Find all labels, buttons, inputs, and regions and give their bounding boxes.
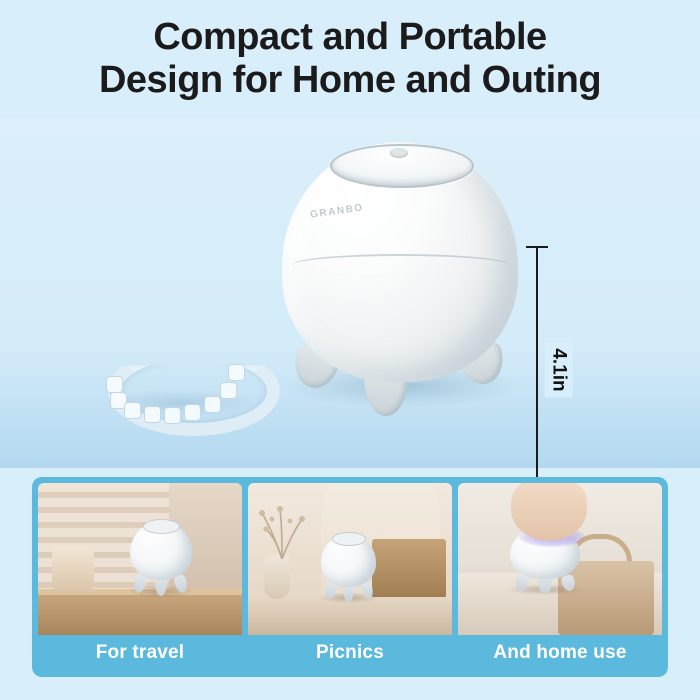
scene-vase xyxy=(264,555,290,599)
product-infographic: Compact and Portable Design for Home and… xyxy=(0,0,700,700)
scene-table xyxy=(38,591,242,635)
tray-segment xyxy=(164,407,181,424)
product-device: GRANBO xyxy=(278,128,522,428)
use-case-caption-travel: For travel xyxy=(38,635,242,671)
use-case-card-home: And home use xyxy=(458,483,662,671)
use-case-panel: For travel xyxy=(32,477,668,677)
headline-line-1: Compact and Portable xyxy=(0,16,700,59)
tray-segment xyxy=(184,404,201,421)
use-case-image-travel xyxy=(38,483,242,635)
use-case-card-travel: For travel xyxy=(38,483,242,671)
use-case-image-picnics xyxy=(248,483,452,635)
hero-image: GRANBO 4.1in 4.1in xyxy=(0,118,700,468)
use-case-caption-home: And home use xyxy=(458,635,662,671)
scene-cup xyxy=(52,547,94,593)
tray-segment xyxy=(204,396,221,413)
tray-segment xyxy=(228,364,245,381)
mini-device xyxy=(315,525,381,599)
power-button-icon[interactable] xyxy=(390,148,408,158)
scene-boxes xyxy=(372,539,446,599)
tray-segment xyxy=(106,376,123,393)
aligner-tray xyxy=(100,346,260,418)
headline-line-2: Design for Home and Outing xyxy=(0,59,700,102)
height-dimension-label: 4.1in xyxy=(545,342,573,397)
height-dimension-cap-top xyxy=(526,246,548,248)
use-case-caption-picnics: Picnics xyxy=(248,635,452,671)
device-seam xyxy=(292,254,510,276)
mini-device xyxy=(124,511,198,593)
use-case-card-picnics: Picnics xyxy=(248,483,452,671)
page-title: Compact and Portable Design for Home and… xyxy=(0,16,700,103)
use-case-image-home xyxy=(458,483,662,635)
tray-segment xyxy=(124,402,141,419)
tray-segment xyxy=(144,406,161,423)
tray-arc xyxy=(108,346,280,436)
tray-segment xyxy=(220,382,237,399)
scene-dried-flowers-icon xyxy=(252,501,306,559)
